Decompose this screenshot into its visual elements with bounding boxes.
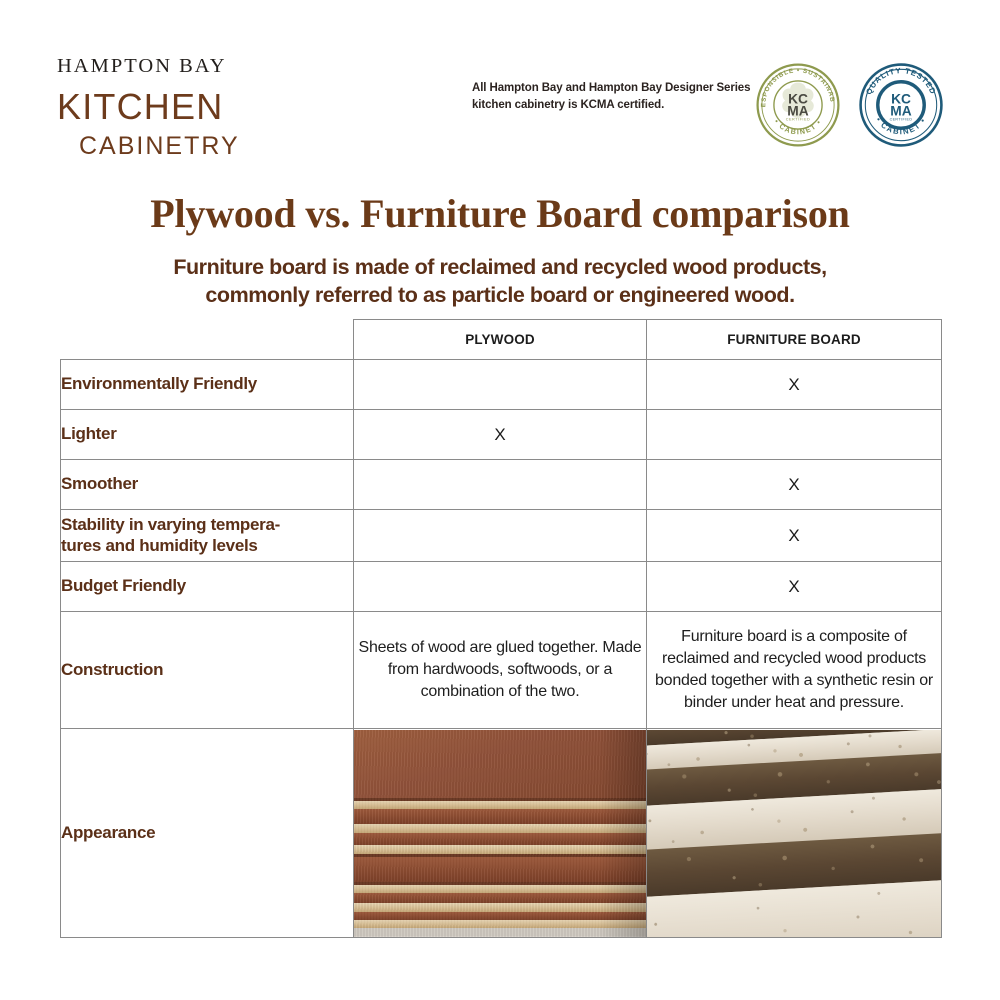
construction-plywood-text: Sheets of wood are glued together. Made … xyxy=(354,612,647,729)
certification-note: All Hampton Bay and Hampton Bay Designer… xyxy=(472,80,752,113)
furniture-board-mark: X xyxy=(647,360,942,410)
plywood-mark: X xyxy=(354,410,647,460)
table-header-row: PLYWOOD FURNITURE BOARD xyxy=(61,320,942,360)
svg-text:CERTIFIED: CERTIFIED xyxy=(786,117,810,121)
feature-label: Lighter xyxy=(61,410,354,460)
table-row: Environmentally Friendly X xyxy=(61,360,942,410)
brand-kitchen-word: KITCHEN xyxy=(57,89,337,125)
brand-logo: HAMPTON BAY KITCHEN CABINETRY xyxy=(57,56,337,159)
table-row: Smoother X xyxy=(61,460,942,510)
page-subtitle: Furniture board is made of reclaimed and… xyxy=(0,253,1000,310)
certification-badges: KC MA CERTIFIED RESPONSIBLE • SUSTAINABL… xyxy=(755,60,945,152)
svg-text:MA: MA xyxy=(890,103,911,118)
brand-cabinetry-word: CABINETRY xyxy=(79,134,337,159)
feature-label-line-1: Stability in varying tempera- xyxy=(61,515,353,535)
svg-text:CERTIFIED: CERTIFIED xyxy=(890,117,913,121)
particle-board-edge-stack-photo xyxy=(647,730,941,937)
table-row: Stability in varying tempera- tures and … xyxy=(61,510,942,562)
furniture-board-mark: X xyxy=(647,562,942,612)
feature-label: Stability in varying tempera- tures and … xyxy=(61,510,354,562)
page-title: Plywood vs. Furniture Board comparison xyxy=(0,194,1000,234)
plywood-mark xyxy=(354,360,647,410)
table-row: Lighter X xyxy=(61,410,942,460)
feature-label: Smoother xyxy=(61,460,354,510)
plywood-mark xyxy=(354,562,647,612)
construction-furniture-board-text: Furniture board is a composite of reclai… xyxy=(647,612,942,729)
plywood-mark xyxy=(354,510,647,562)
plywood-mark xyxy=(354,460,647,510)
infographic-page: HAMPTON BAY KITCHEN CABINETRY All Hampto… xyxy=(0,0,1000,1000)
appearance-plywood-cell xyxy=(354,729,647,938)
subtitle-line-1: Furniture board is made of reclaimed and… xyxy=(173,255,826,279)
appearance-label: Appearance xyxy=(61,729,354,938)
page-header: HAMPTON BAY KITCHEN CABINETRY All Hampto… xyxy=(0,0,1000,175)
furniture-board-mark: X xyxy=(647,510,942,562)
column-header-furniture-board: FURNITURE BOARD xyxy=(647,320,942,360)
feature-label-line-2: tures and humidity levels xyxy=(61,536,353,556)
header-corner-blank xyxy=(61,320,354,360)
brand-name: HAMPTON BAY xyxy=(57,56,337,77)
construction-label: Construction xyxy=(61,612,354,729)
table-row-construction: Construction Sheets of wood are glued to… xyxy=(61,612,942,729)
furniture-board-mark xyxy=(647,410,942,460)
feature-label: Environmentally Friendly xyxy=(61,360,354,410)
column-header-plywood: PLYWOOD xyxy=(354,320,647,360)
svg-text:MA: MA xyxy=(787,103,808,118)
kcma-sustainable-badge: KC MA CERTIFIED RESPONSIBLE • SUSTAINABL… xyxy=(755,62,841,148)
kcma-quality-tested-badge: KC MA CERTIFIED QUALITY TESTED • CABINET… xyxy=(858,62,944,148)
subtitle-line-2: commonly referred to as particle board o… xyxy=(0,281,1000,309)
plywood-edge-stack-photo xyxy=(354,730,646,937)
comparison-table: PLYWOOD FURNITURE BOARD Environmentally … xyxy=(60,319,942,938)
table-row: Budget Friendly X xyxy=(61,562,942,612)
feature-label: Budget Friendly xyxy=(61,562,354,612)
table-row-appearance: Appearance xyxy=(61,729,942,938)
furniture-board-mark: X xyxy=(647,460,942,510)
appearance-furniture-board-cell xyxy=(647,729,942,938)
